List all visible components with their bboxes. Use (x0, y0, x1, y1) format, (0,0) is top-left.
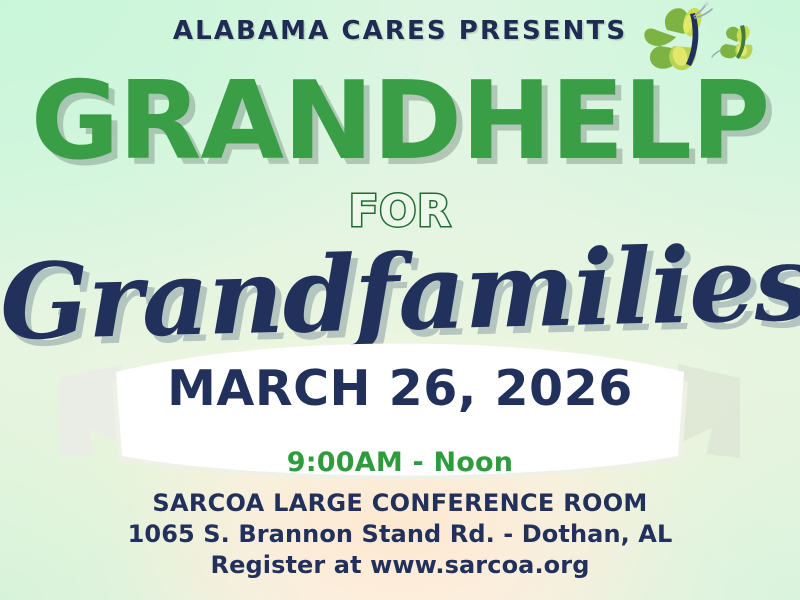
venue-room: SARCOA LARGE CONFERENCE ROOM (0, 490, 800, 517)
event-date: MARCH 26, 2026 (0, 363, 800, 415)
page-title-grandhelp: GRANDHELP (0, 68, 800, 176)
venue-address: 1065 S. Brannon Stand Rd. - Dothan, AL (0, 521, 800, 548)
event-flyer: ALABAMA CARES PRESENTS GRANDHELP FO (0, 0, 800, 600)
registration-line: Register at www.sarcoa.org (0, 552, 800, 579)
event-time: 9:00AM - Noon (0, 448, 800, 478)
butterfly-small-icon (712, 25, 753, 59)
